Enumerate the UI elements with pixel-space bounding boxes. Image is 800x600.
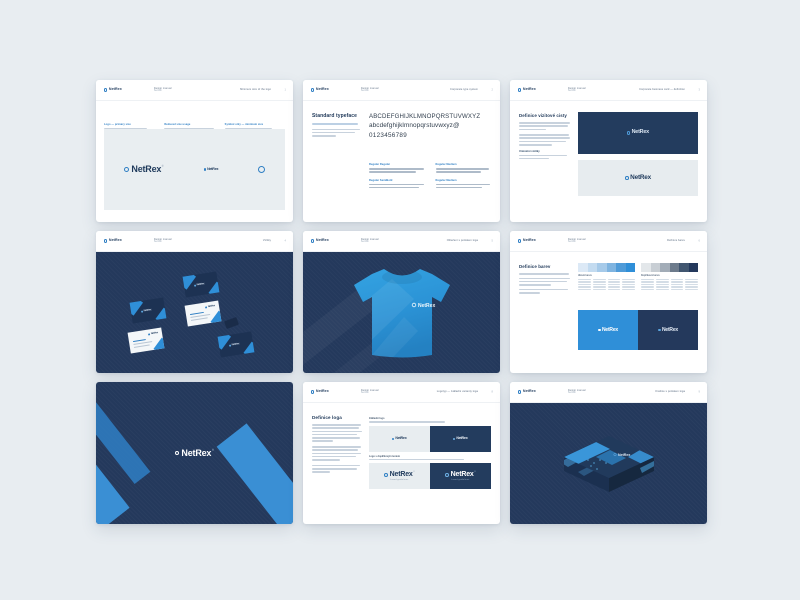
specimen-lowercase: abcdefghijklmnopqrstuvwxyz@ xyxy=(369,121,492,131)
body-block xyxy=(519,155,571,160)
mockup-scene-box: NetRex xyxy=(510,403,707,524)
header-meta: Design manual Section xyxy=(361,238,379,244)
mockup-scene-business-cards: NetRex NetRex NetRex xyxy=(96,252,293,373)
color-block-secondary: NetRex xyxy=(638,310,698,350)
header-title: Krabice s potiskem loga xyxy=(655,390,685,393)
trademark-mark: ® xyxy=(212,449,214,452)
group-caption: Základní logo xyxy=(369,417,491,420)
logo-mark-only xyxy=(258,166,265,173)
palette-strip-blue xyxy=(578,263,635,272)
slide-header: NetRex Design manual Section Corporate t… xyxy=(303,80,500,101)
header-page-number: 4 xyxy=(285,240,286,243)
header-logo-label: NetRex xyxy=(316,239,329,243)
lockup-light: NetRex ® brand guidelines xyxy=(369,463,430,489)
slide-header: NetRex Design manual Section Oblečení s … xyxy=(303,231,500,252)
ring-icon xyxy=(518,88,521,91)
ring-icon xyxy=(598,329,601,332)
slide-card-colors[interactable]: NetRex Design manual Section Definice ba… xyxy=(510,231,707,373)
mockup-scene-tshirt: NetRex xyxy=(303,252,500,373)
header-meta: Design manual Section xyxy=(568,87,586,93)
ring-icon xyxy=(453,438,455,440)
header-title: Logotyp — základní varianty loga xyxy=(437,390,478,393)
weight-item: Regular SemiBold xyxy=(369,179,426,191)
body-block xyxy=(519,134,571,145)
header-title: Corporate type system xyxy=(450,88,478,91)
ring-icon xyxy=(392,438,394,440)
weight-item: Regular Regular xyxy=(369,163,426,175)
intro-lines-2 xyxy=(312,129,362,137)
color-table-row xyxy=(578,284,635,286)
header-logo: NetRex xyxy=(104,88,122,92)
logo-small-light: NetRex xyxy=(392,437,406,441)
card-logo: NetRex xyxy=(229,343,240,347)
ring-icon xyxy=(445,473,449,477)
ring-icon xyxy=(104,88,107,91)
colors-text-column: Definice barev xyxy=(519,264,571,295)
header-logo: NetRex xyxy=(311,88,329,92)
weight-name: Regular Regular xyxy=(369,163,426,166)
header-logo-label: NetRex xyxy=(109,239,122,243)
cover-scene: NetRex ® xyxy=(96,382,293,524)
weight-lines xyxy=(436,168,493,173)
slide-header: NetRex Design manual Section Corporate b… xyxy=(510,80,707,101)
slide-card-logo-sizes[interactable]: NetRex Design manual Section Minimum siz… xyxy=(96,80,293,222)
slide-body: Definice loga Základní logo xyxy=(303,403,500,524)
color-table: Doplňková barva xyxy=(641,275,698,291)
ring-icon xyxy=(311,390,314,393)
logo-on-blue: NetRex xyxy=(598,328,618,333)
logo-line: NetRex ® xyxy=(445,471,475,478)
weight-lines xyxy=(369,168,426,173)
color-table-title: Hlavní barva xyxy=(578,275,635,277)
header-title: Definice barev xyxy=(667,239,685,242)
header-meta-line2: Section xyxy=(361,90,379,93)
header-page-number: 2 xyxy=(492,89,493,92)
body-block xyxy=(519,122,571,130)
weight-lines xyxy=(369,184,426,189)
ring-icon xyxy=(658,329,661,332)
slide-card-cover[interactable]: NetRex ® xyxy=(96,382,293,524)
logo-large-dark: NetRex ® brand guidelines xyxy=(445,471,475,481)
color-table: Hlavní barva xyxy=(578,275,635,291)
trademark-mark: ® xyxy=(162,165,164,168)
panel-dark-preview: NetRex xyxy=(578,112,698,154)
ring-icon xyxy=(124,167,130,173)
weight-name: Regular SemiBold xyxy=(369,179,426,182)
card-logo: NetRex xyxy=(194,283,205,287)
header-meta: Design manual Section xyxy=(154,238,172,244)
header-logo: NetRex xyxy=(311,239,329,243)
header-title: Vizitky xyxy=(263,239,271,242)
typography-intro: Standard typeface xyxy=(312,113,362,138)
header-page-number: 3 xyxy=(699,89,700,92)
slide-header: NetRex Design manual Section Logotyp — z… xyxy=(303,382,500,403)
header-page-number: 1 xyxy=(285,89,286,92)
slide-body: Logo — primary size Reduced size usage S… xyxy=(96,101,293,222)
body-block xyxy=(312,446,362,461)
group-caption: Logo s doplňkovým textem xyxy=(369,455,491,458)
header-page-number: 8 xyxy=(492,391,493,394)
specimen-uppercase: ABCDEFGHIJKLMNOPQRSTUVWXYZ xyxy=(369,112,492,121)
header-logo: NetRex xyxy=(518,239,536,243)
header-logo-label: NetRex xyxy=(109,88,122,92)
header-logo-label: NetRex xyxy=(523,88,536,92)
caption-label: Symbol only — minimum size xyxy=(225,123,279,126)
specimen-numerals: 0123456789 xyxy=(369,131,492,140)
header-logo: NetRex xyxy=(518,390,536,394)
slide-card-business-card-mockup[interactable]: NetRex Design manual Section Vizitky 4 N… xyxy=(96,231,293,373)
logo-on-navy: NetRex xyxy=(658,328,678,333)
tshirt-graphic: NetRex xyxy=(303,252,500,373)
card-logo: NetRex xyxy=(148,332,158,336)
color-table-row xyxy=(578,286,635,288)
card-logo: NetRex xyxy=(141,309,152,313)
logo-tagline: brand guidelines xyxy=(452,479,470,481)
header-page-number: 6 xyxy=(699,240,700,243)
palette-strips xyxy=(578,263,698,272)
header-meta-line2: Section xyxy=(568,241,586,244)
slide-card-logo-lockups[interactable]: NetRex Design manual Section Logotyp — z… xyxy=(303,382,500,524)
tshirt-svg: NetRex xyxy=(342,259,462,367)
caption-label: Reduced size usage xyxy=(164,123,218,126)
trademark-mark: ® xyxy=(474,471,476,473)
section-heading: Definice vizitové cisty xyxy=(519,113,571,118)
logo-tagline: brand guidelines xyxy=(391,479,409,481)
ring-icon xyxy=(518,239,521,242)
header-meta: Design manual Section xyxy=(568,389,586,395)
weight-specimens: Regular Regular Regular Medium Regular S… xyxy=(369,163,492,190)
weight-name: Regular Medium xyxy=(436,179,493,182)
ring-icon xyxy=(311,239,314,242)
body-block xyxy=(312,424,362,442)
ring-icon xyxy=(258,166,265,173)
body-block xyxy=(519,273,571,275)
section-heading: Definice loga xyxy=(312,415,362,420)
ring-icon xyxy=(311,88,314,91)
weight-lines xyxy=(436,184,493,189)
lockup-row: NetRex ® brand guidelines NetRex xyxy=(369,463,491,489)
header-logo: NetRex xyxy=(518,88,536,92)
section-heading: Standard typeface xyxy=(312,113,362,119)
color-table-title: Doplňková barva xyxy=(641,275,698,277)
lockup-groups: Základní logo NetRex NetRex xyxy=(369,414,491,492)
weight-item: Regular Medium xyxy=(436,179,493,191)
color-table-row xyxy=(641,289,698,291)
logo-large: NetRex ® xyxy=(124,165,164,174)
sub-heading: Umístění vizitky xyxy=(519,150,571,153)
color-table-row xyxy=(578,279,635,281)
panel-light-preview: NetRex xyxy=(578,160,698,196)
trademark-mark: ® xyxy=(413,471,415,473)
color-block-primary: NetRex xyxy=(578,310,638,350)
color-tables: Hlavní barva Doplňková barva xyxy=(578,275,698,291)
header-meta-line2: Section xyxy=(361,241,379,244)
color-blocks: NetRex NetRex xyxy=(578,310,698,350)
logo-on-light: NetRex xyxy=(625,175,651,181)
body-block xyxy=(519,278,571,286)
type-specimen: ABCDEFGHIJKLMNOPQRSTUVWXYZ abcdefghijklm… xyxy=(369,112,492,140)
slide-card-typography[interactable]: NetRex Design manual Section Corporate t… xyxy=(303,80,500,222)
header-meta: Design manual Section xyxy=(361,389,379,395)
header-meta-line2: Section xyxy=(568,392,586,395)
intro-lines xyxy=(312,123,362,125)
ring-icon xyxy=(104,239,107,242)
color-table-row xyxy=(578,281,635,283)
section-heading: Definice barev xyxy=(519,264,571,269)
logo-small: NetRex xyxy=(204,168,219,172)
header-meta-line2: Section xyxy=(154,241,172,244)
ring-icon xyxy=(175,451,179,455)
header-title: Oblečení s potiskem loga xyxy=(447,239,478,242)
header-title: Corporate business card — definition xyxy=(639,88,685,91)
header-meta: Design manual Section xyxy=(154,87,172,93)
lockup-dark: NetRex ® brand guidelines xyxy=(430,463,491,489)
lockup-dark: NetRex xyxy=(430,426,491,452)
slide-grid: NetRex Design manual Section Minimum siz… xyxy=(96,80,708,528)
header-logo: NetRex xyxy=(311,390,329,394)
slide-header: NetRex Design manual Section Vizitky 4 xyxy=(96,231,293,252)
header-logo: NetRex xyxy=(104,239,122,243)
lockup-row: NetRex NetRex xyxy=(369,426,491,452)
header-meta: Design manual Section xyxy=(361,87,379,93)
spec-text-column: Definice vizitové cisty Umístění vizitky xyxy=(519,113,571,161)
color-table-row xyxy=(641,279,698,281)
slide-body: Definice barev xyxy=(510,252,707,373)
cover-logo: NetRex ® xyxy=(175,449,214,458)
logo-on-dark: NetRex xyxy=(627,130,649,135)
slide-card-business-card-spec[interactable]: NetRex Design manual Section Corporate b… xyxy=(510,80,707,222)
header-title: Minimum size of the logo xyxy=(240,88,271,91)
ring-icon xyxy=(384,473,388,477)
palette-strip-neutral xyxy=(641,263,698,272)
slide-header: NetRex Design manual Section Minimum siz… xyxy=(96,80,293,101)
header-logo-label: NetRex xyxy=(523,390,536,394)
lockup-light: NetRex xyxy=(369,426,430,452)
header-meta-line2: Section xyxy=(154,90,172,93)
card-logo: NetRex xyxy=(205,305,215,309)
ring-icon xyxy=(625,176,629,180)
color-table-row xyxy=(578,289,635,291)
color-table-row xyxy=(641,286,698,288)
slide-body: Definice vizitové cisty Umístění vizitky xyxy=(510,101,707,222)
color-table-row xyxy=(641,284,698,286)
header-logo-label: NetRex xyxy=(316,390,329,394)
slide-card-packaging[interactable]: NetRex Design manual Section Krabice s p… xyxy=(510,382,707,524)
slide-body: Standard typeface ABCDEFGHIJKLMNOPQRSTUV… xyxy=(303,101,500,222)
slide-header: NetRex Design manual Section Krabice s p… xyxy=(510,382,707,403)
ring-icon xyxy=(204,168,207,171)
header-logo-label: NetRex xyxy=(316,88,329,92)
body-block xyxy=(312,465,362,473)
header-page-number: 9 xyxy=(699,391,700,394)
logo-showcase-panel: NetRex ® NetRex xyxy=(104,129,285,210)
logo-large-light: NetRex ® brand guidelines xyxy=(384,471,414,481)
svg-text:NetRex: NetRex xyxy=(618,453,630,457)
weight-name: Regular Medium xyxy=(436,163,493,166)
ring-icon xyxy=(627,131,630,134)
header-meta: Design manual Section xyxy=(568,238,586,244)
weight-item: Regular Medium xyxy=(436,163,493,175)
logo-small-dark: NetRex xyxy=(453,437,467,441)
lockup-text-column: Definice loga xyxy=(312,415,362,475)
slide-header: NetRex Design manual Section Definice ba… xyxy=(510,231,707,252)
header-meta-line2: Section xyxy=(361,392,379,395)
slide-card-tshirt-mockup[interactable]: NetRex Design manual Section Oblečení s … xyxy=(303,231,500,373)
box-svg: NetRex xyxy=(554,424,664,504)
cover-logo-wrap: NetRex ® xyxy=(96,382,293,524)
box-graphic: NetRex xyxy=(510,403,707,524)
header-logo-label: NetRex xyxy=(523,239,536,243)
header-meta-line2: Section xyxy=(568,90,586,93)
logo-line: NetRex ® xyxy=(384,471,414,478)
color-table-row xyxy=(641,281,698,283)
svg-text:NetRex: NetRex xyxy=(418,303,435,309)
screenshot-root: NetRex Design manual Section Minimum siz… xyxy=(0,0,800,600)
header-page-number: 5 xyxy=(492,240,493,243)
caption-label: Logo — primary size xyxy=(104,123,158,126)
body-block xyxy=(519,289,571,294)
ring-icon xyxy=(518,390,521,393)
